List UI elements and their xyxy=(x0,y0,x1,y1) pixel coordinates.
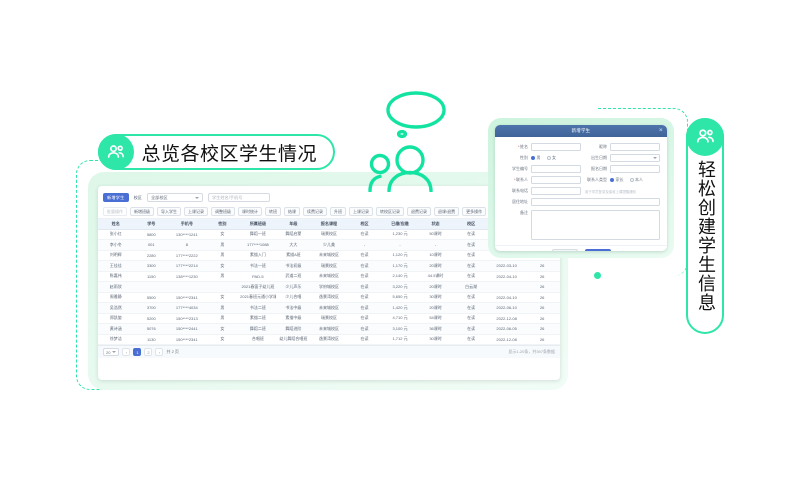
table-cell: 学府城校区 xyxy=(311,282,347,293)
table-cell: 舞蹈启蒙 xyxy=(276,229,312,240)
search-placeholder: 学生姓名/手机号 xyxy=(212,195,242,201)
table-column-header[interactable]: 学号 xyxy=(134,219,170,229)
table-cell: 在读 xyxy=(347,271,383,282)
student-id-field[interactable] xyxy=(531,165,581,173)
table-cell: 3300 xyxy=(134,261,170,272)
badge-left-text: 总览各校区学生情况 xyxy=(142,139,318,166)
table-cell: 2022-03-10 xyxy=(489,261,525,272)
table-cell: 1,230 元 xyxy=(382,229,418,240)
table-cell: 瑞景校区 xyxy=(311,261,347,272)
table-cell: 未来城校区 xyxy=(311,271,347,282)
table-cell: 在读 xyxy=(347,229,383,240)
table-cell: 2022-04-10 xyxy=(489,292,525,303)
badge-create-student: 轻松创建学生信息 xyxy=(686,118,724,334)
table-cell: 177****4034 xyxy=(169,303,205,314)
table-column-header[interactable]: 状态 xyxy=(418,219,454,229)
table-cell: 在读 xyxy=(453,261,489,272)
table-row[interactable]: 赵雨欣2021春笛子幼儿班少儿声乐学府城校区在读3,220 元20课时白云湖26 xyxy=(98,282,560,293)
table-cell: 少儿声乐 xyxy=(276,282,312,293)
form-row-guardian-contacttype: *联系人 联系人类型 家长 本人 xyxy=(502,176,660,184)
calendar-icon xyxy=(653,157,657,159)
table-cell: 130****1241 xyxy=(169,229,205,240)
table-column-header[interactable]: 所属班级 xyxy=(240,219,276,229)
address-field[interactable] xyxy=(531,198,660,206)
name-label: *姓名 xyxy=(502,144,528,150)
table-row[interactable]: 徐梦洁1130150****2341女合唱班幼儿舞蹈合唱班逸景湾校区在读1,71… xyxy=(98,334,560,345)
form-row-phone: 联系电话 用于学员登录及接收上课提醒通知 xyxy=(502,187,660,195)
action-chip[interactable]: 调整班级 xyxy=(211,207,235,216)
table-cell: 26 xyxy=(524,261,560,272)
table-cell: 在读 xyxy=(347,261,383,272)
table-cell: 在读 xyxy=(347,313,383,324)
table-cell: 男 xyxy=(205,303,241,314)
birthday-label: 出生日期 xyxy=(581,155,607,161)
table-cell: 30课时 xyxy=(418,334,454,345)
people-icon xyxy=(686,118,724,156)
table-cell: 男 xyxy=(205,313,241,324)
table-column-header[interactable]: 年级 xyxy=(276,219,312,229)
contact-type-option-label: 家长 xyxy=(616,177,624,183)
action-chip[interactable]: 上课记录 xyxy=(349,207,373,216)
pagination-summary: 显示1-20条，共397条数据 xyxy=(508,349,555,355)
table-cell: 瑞景校区 xyxy=(311,313,347,324)
table-cell: 20课时 xyxy=(418,303,454,314)
table-cell: 54课时 xyxy=(418,313,454,324)
page-size-select[interactable]: 20 xyxy=(103,348,119,356)
table-column-header[interactable]: 校区 xyxy=(453,219,489,229)
table-cell: 150****2341 xyxy=(169,292,205,303)
table-cell: 44.5课时 xyxy=(418,271,454,282)
table-cell: 女 xyxy=(205,229,241,240)
nickname-label: 昵称 xyxy=(581,144,607,150)
campus-filter-value: 全部校区 xyxy=(151,195,168,201)
phone-hint: 用于学员登录及接收上课提醒通知 xyxy=(585,189,636,194)
modal-backdrop: 新增学生 ✕ *姓名 昵称 性别 xyxy=(488,118,674,258)
table-cell: 2021春笛子幼儿班 xyxy=(240,282,276,293)
remark-label: 备注 xyxy=(502,210,528,216)
action-chip[interactable]: 批量操作 xyxy=(103,207,127,216)
close-icon[interactable]: ✕ xyxy=(659,129,663,134)
table-cell: 男 xyxy=(205,271,241,282)
table-cell: 男 xyxy=(205,240,241,251)
table-cell: 陈嘉伟 xyxy=(98,271,134,282)
table-cell: 26 xyxy=(524,292,560,303)
table-cell: 素描二班 xyxy=(240,313,276,324)
table-cell: 1130 xyxy=(134,334,170,345)
pagination-bar: 20 ‹ 1 2 › 共 2 页 显示1-20条，共397条数据 xyxy=(98,345,560,358)
action-chip[interactable]: 退课/退费 xyxy=(434,207,459,216)
enroll-date-field[interactable] xyxy=(610,165,660,173)
contact-type-label: 联系人类型 xyxy=(581,177,607,183)
table-cell: 138****1230 xyxy=(169,271,205,282)
action-chip[interactable]: 上课记录 xyxy=(184,207,208,216)
table-cell: 素描入门 xyxy=(240,250,276,261)
gender-radio-female[interactable]: 女 xyxy=(547,155,557,161)
table-row[interactable]: 王佳佳3300177****2214女书法一班书法初级瑞景校区在读1,170 元… xyxy=(98,261,560,272)
form-row-id-enroll: 学生编号 报名日期 xyxy=(502,165,660,173)
table-cell: 5800 xyxy=(134,229,170,240)
table-cell: 少儿美 xyxy=(311,240,347,251)
enroll-date-label: 报名日期 xyxy=(581,166,607,172)
page-size-value: 20 xyxy=(106,350,110,355)
table-cell: 女 xyxy=(205,334,241,345)
table-cell: 26 xyxy=(524,282,560,293)
table-cell: 武道二班 xyxy=(276,271,312,282)
table-cell: 舞蹈进阶 xyxy=(276,324,312,335)
table-cell: 3700 xyxy=(134,303,170,314)
page-button-1[interactable]: 1 xyxy=(133,348,141,356)
radio-dot-icon xyxy=(610,178,614,182)
phone-label: 联系电话 xyxy=(502,188,528,194)
table-cell: PAD-5 xyxy=(240,271,276,282)
action-chip[interactable]: 新增班级 xyxy=(130,207,154,216)
table-cell: 在读 xyxy=(347,250,383,261)
table-column-header[interactable]: 姓名 xyxy=(98,219,134,229)
table-row[interactable]: 陈嘉伟1150138****1230男PAD-5武道二班未来城校区在读2,140… xyxy=(98,271,560,282)
badge-overview-students: 总览各校区学生情况 xyxy=(98,134,335,170)
people-thought-bubble-icon xyxy=(358,88,464,192)
table-cell: 26 xyxy=(524,324,560,335)
table-cell: 26 xyxy=(524,313,560,324)
table-cell: - xyxy=(418,240,454,251)
table-cell: 10课时 xyxy=(418,250,454,261)
guardian-label: *联系人 xyxy=(502,177,528,183)
nickname-field[interactable] xyxy=(610,143,660,151)
action-chip[interactable]: 退费记录 xyxy=(407,207,431,216)
table-cell: 未来城校区 xyxy=(311,250,347,261)
gender-radio-male[interactable]: 男 xyxy=(531,155,541,161)
remark-textarea[interactable] xyxy=(531,210,660,240)
gender-radio-group[interactable]: 男 女 xyxy=(531,155,581,161)
table-cell: 女 xyxy=(205,292,241,303)
table-cell: 在读 xyxy=(453,324,489,335)
table-column-header[interactable]: 报名课程 xyxy=(311,219,347,229)
table-cell: 5200 xyxy=(134,313,170,324)
address-label: 居住地址 xyxy=(502,199,528,205)
chevron-down-icon xyxy=(112,351,116,353)
next-page-button[interactable]: › xyxy=(155,348,163,356)
table-row[interactable]: 吴浩然3700177****4034男书法二班书法中级未来城校区在读1,420 … xyxy=(98,303,560,314)
people-icon xyxy=(98,134,134,170)
table-cell: 在读 xyxy=(453,292,489,303)
birthday-field[interactable] xyxy=(610,154,660,162)
table-cell: 2022-04-10 xyxy=(489,271,525,282)
table-cell: 在读 xyxy=(347,282,383,293)
table-cell: 2280 xyxy=(134,250,170,261)
table-cell: 在读 xyxy=(347,334,383,345)
table-cell: 1150 xyxy=(134,271,170,282)
campus-filter-label: 校区 xyxy=(134,195,142,201)
table-cell: 2022-06-05 xyxy=(489,324,525,335)
radio-dot-icon xyxy=(547,156,551,160)
table-cell: 未来城校区 xyxy=(311,303,347,314)
table-cell xyxy=(169,282,205,293)
table-cell: 周雅静 xyxy=(98,292,134,303)
table-cell xyxy=(134,282,170,293)
contact-type-radio-self[interactable]: 本人 xyxy=(630,177,644,183)
table-cell: 在读 xyxy=(347,303,383,314)
table-cell: 3,220 元 xyxy=(382,282,418,293)
table-cell: 刘明辉 xyxy=(98,250,134,261)
action-chip[interactable]: 升班 xyxy=(330,207,346,216)
form-row-name-nickname: *姓名 昵称 xyxy=(502,143,660,151)
table-cell: 5,650 元 xyxy=(382,292,418,303)
table-column-header[interactable]: 校区 xyxy=(347,219,383,229)
table-cell: 在读 xyxy=(453,271,489,282)
table-cell: 26 xyxy=(524,271,560,282)
table-cell: 逸景湾校区 xyxy=(311,292,347,303)
action-chip[interactable]: 转校区记录 xyxy=(376,207,404,216)
name-field[interactable] xyxy=(531,143,581,151)
screenshot-root: 新增学生 校区 全部校区 学生姓名/手机号 批量操作新增班级导入学生上课记录调整… xyxy=(0,0,800,500)
table-cell: 合唱班 xyxy=(240,334,276,345)
table-cell: 1,170 元 xyxy=(382,261,418,272)
action-chip[interactable]: 课时统计 xyxy=(238,207,262,216)
gender-option-label: 女 xyxy=(552,155,556,161)
radio-dot-icon xyxy=(630,178,634,182)
table-cell: 2022-12-08 xyxy=(489,334,525,345)
guardian-field[interactable] xyxy=(531,176,581,184)
cancel-button[interactable]: 取消 xyxy=(552,249,578,251)
table-cell: 白云湖 xyxy=(453,282,489,293)
table-cell: 素描中级 xyxy=(276,313,312,324)
table-cell: 徐梦洁 xyxy=(98,334,134,345)
table-cell: 舞蹈一班 xyxy=(240,229,276,240)
table-cell: 在读 xyxy=(453,303,489,314)
table-cell: 150****2441 xyxy=(169,324,205,335)
table-cell: 书法中级 xyxy=(276,303,312,314)
table-cell: 5076 xyxy=(134,324,170,335)
table-cell: 8 xyxy=(169,240,205,251)
table-cell: 书法初级 xyxy=(276,261,312,272)
table-cell: 在读 xyxy=(453,334,489,345)
table-cell: 177****2222 xyxy=(169,250,205,261)
table-cell: 150****2313 xyxy=(169,313,205,324)
table-cell: 26 xyxy=(524,303,560,314)
contact-type-radio-parent[interactable]: 家长 xyxy=(610,177,624,183)
table-cell: 幼儿舞蹈合唱班 xyxy=(276,334,312,345)
table-cell: 素描A班 xyxy=(276,250,312,261)
table-cell: 在读 xyxy=(347,324,383,335)
contact-type-radio-group[interactable]: 家长 本人 xyxy=(610,177,660,183)
table-cell: 大大 xyxy=(276,240,312,251)
table-cell: 30课时 xyxy=(418,292,454,303)
action-chip[interactable]: 续费记录 xyxy=(303,207,327,216)
table-cell: - xyxy=(347,240,383,251)
table-cell: 001 xyxy=(134,240,170,251)
table-cell: 男 xyxy=(205,250,241,261)
table-cell: 2,140 元 xyxy=(382,271,418,282)
table-column-header[interactable]: 已缴/应缴 xyxy=(382,219,418,229)
table-cell: 2022-12-08 xyxy=(489,313,525,324)
table-cell: 在读 xyxy=(453,313,489,324)
campus-filter-select[interactable]: 全部校区 xyxy=(147,193,203,202)
table-cell: 舞蹈二班 xyxy=(240,324,276,335)
chevron-down-icon xyxy=(195,197,199,199)
connector-dot xyxy=(594,272,601,279)
radio-dot-icon xyxy=(531,156,535,160)
badge-right-text: 轻松创建学生信息 xyxy=(696,160,714,312)
action-chip[interactable]: 导入学生 xyxy=(157,207,181,216)
gender-label: 性别 xyxy=(502,155,528,161)
pagination-total: 共 2 页 xyxy=(166,349,178,355)
table-cell: 1,712 元 xyxy=(382,334,418,345)
table-cell: 赵雨欣 xyxy=(98,282,134,293)
table-cell: 1,120 元 xyxy=(382,250,418,261)
add-student-modal: 新增学生 ✕ *姓名 昵称 性别 xyxy=(495,125,667,251)
modal-header: 新增学生 ✕ xyxy=(495,125,667,137)
table-column-header[interactable]: 手机号 xyxy=(169,219,205,229)
table-cell: 1,420 元 xyxy=(382,303,418,314)
table-cell xyxy=(205,282,241,293)
student-id-label: 学生编号 xyxy=(502,166,528,172)
action-chip[interactable]: 结课 xyxy=(284,207,300,216)
table-cell: 20课时 xyxy=(418,261,454,272)
phone-field[interactable] xyxy=(531,187,581,195)
search-input[interactable]: 学生姓名/手机号 xyxy=(208,193,270,202)
table-cell: 50课时 xyxy=(418,229,454,240)
form-row-remark: 备注 xyxy=(502,210,660,240)
table-row[interactable]: 周雅静5500150****2341女2021春班元通小学课少儿合唱逸景湾校区在… xyxy=(98,292,560,303)
table-cell: 4,710 元 xyxy=(382,313,418,324)
table-cell: 黄诗涵 xyxy=(98,324,134,335)
table-cell: 张小红 xyxy=(98,229,134,240)
table-cell: 3,100 元 xyxy=(382,324,418,335)
table-cell xyxy=(489,282,525,293)
table-cell: 在读 xyxy=(453,240,489,251)
table-cell: - xyxy=(382,240,418,251)
table-cell: 郑凯旋 xyxy=(98,313,134,324)
table-cell: 在读 xyxy=(453,250,489,261)
form-row-gender-birthday: 性别 男 女 出生日期 xyxy=(502,154,660,162)
table-cell: 在读 xyxy=(453,229,489,240)
table-cell: 在读 xyxy=(347,292,383,303)
table-cell: 李小冬 xyxy=(98,240,134,251)
form-row-address: 居住地址 xyxy=(502,198,660,206)
page-button-2[interactable]: 2 xyxy=(144,348,152,356)
action-chip[interactable]: 转班 xyxy=(265,207,281,216)
action-chip[interactable]: 更多操作 xyxy=(462,207,486,216)
table-cell: 王佳佳 xyxy=(98,261,134,272)
table-cell: 吴浩然 xyxy=(98,303,134,314)
table-cell: 逸景湾校区 xyxy=(311,334,347,345)
table-cell: 36课时 xyxy=(418,324,454,335)
table-cell: 女 xyxy=(205,324,241,335)
table-cell: 未来城校区 xyxy=(311,324,347,335)
table-cell: 2022-06-10 xyxy=(489,303,525,314)
gender-option-label: 男 xyxy=(537,155,541,161)
table-column-header[interactable]: 性别 xyxy=(205,219,241,229)
table-cell: 26 xyxy=(524,334,560,345)
confirm-button[interactable]: 确定 xyxy=(585,249,611,251)
prev-page-button[interactable]: ‹ xyxy=(122,348,130,356)
modal-footer: 取消 确定 xyxy=(495,245,667,251)
table-cell: 书法二班 xyxy=(240,303,276,314)
table-row[interactable]: 黄诗涵5076150****2441女舞蹈二班舞蹈进阶未来城校区在读3,100 … xyxy=(98,324,560,335)
table-cell: 2021春班元通小学课 xyxy=(240,292,276,303)
contact-type-option-label: 本人 xyxy=(635,177,643,183)
table-cell: 177****2214 xyxy=(169,261,205,272)
table-cell: 瑞景校区 xyxy=(311,229,347,240)
table-row[interactable]: 郑凯旋5200150****2313男素描二班素描中级瑞景校区在读4,710 元… xyxy=(98,313,560,324)
modal-form: *姓名 昵称 性别 男 xyxy=(495,137,667,245)
table-cell: 177****1088 xyxy=(240,240,276,251)
add-student-button[interactable]: 新增学生 xyxy=(103,193,129,202)
table-cell: 书法一班 xyxy=(240,261,276,272)
table-cell: 女 xyxy=(205,261,241,272)
table-cell: 少儿合唱 xyxy=(276,292,312,303)
table-cell: 150****2341 xyxy=(169,334,205,345)
table-cell: 20课时 xyxy=(418,282,454,293)
modal-title: 新增学生 xyxy=(572,128,591,134)
table-cell: 5500 xyxy=(134,292,170,303)
